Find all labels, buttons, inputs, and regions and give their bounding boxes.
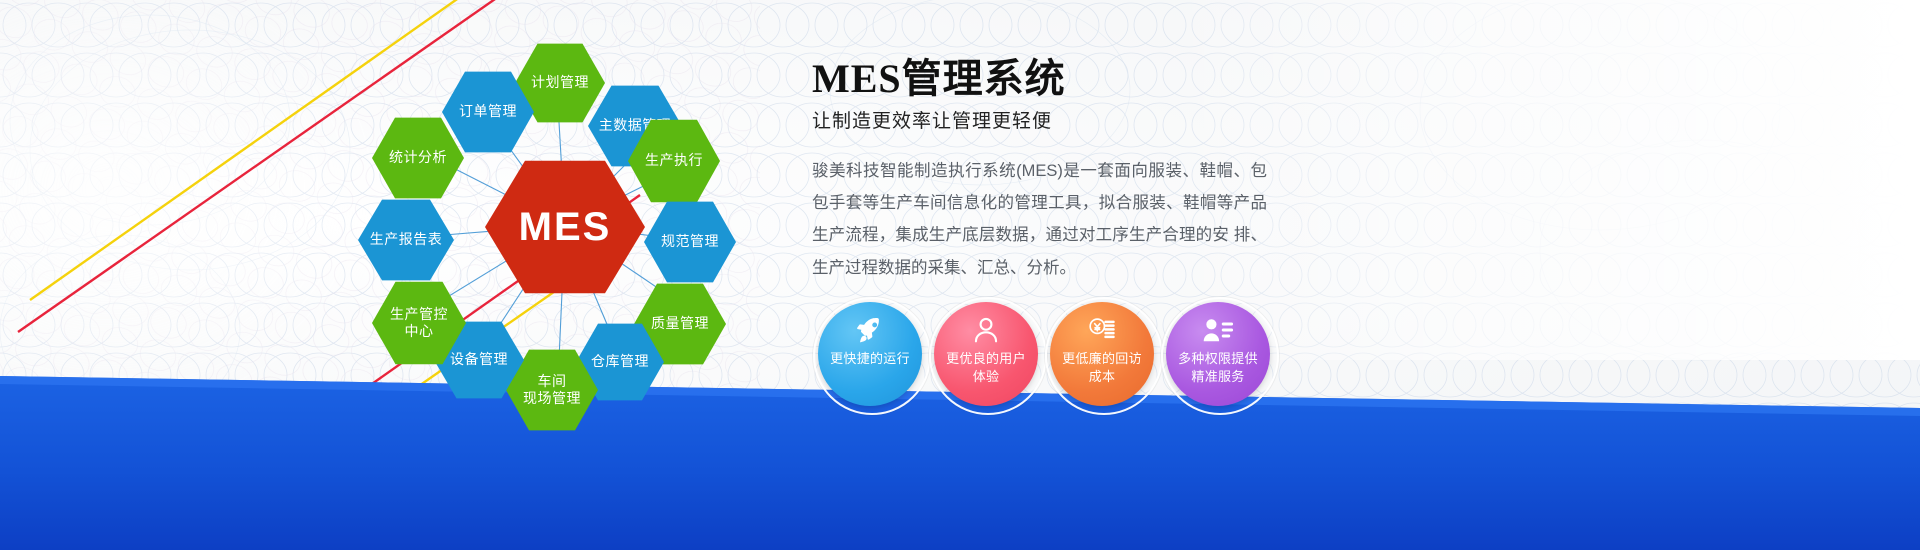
badge-ring: [813, 297, 931, 415]
hex-node-9-label: 生产报告表: [366, 231, 447, 249]
hex-node-11-label: 订单管理: [455, 103, 521, 121]
feature-badge-0[interactable]: 更快捷的运行: [818, 302, 922, 406]
badge-ring: [1161, 297, 1279, 415]
hex-node-10-label: 统计分析: [385, 149, 451, 167]
hex-node-center-label: MES: [515, 202, 616, 252]
hex-node-2-label: 生产执行: [641, 152, 707, 170]
hex-node-7-label: 设备管理: [446, 351, 512, 369]
banner-text-panel: MES管理系统 让制造更效率让管理更轻便 骏美科技智能制造执行系统(MES)是一…: [812, 56, 1282, 284]
page-subtitle: 让制造更效率让管理更轻便: [812, 106, 1282, 133]
intro-paragraph: 骏美科技智能制造执行系统(MES)是一套面向服装、鞋帽、包包手套等生产车间信息化…: [812, 155, 1267, 284]
hex-node-6-label: 车间 现场管理: [519, 373, 585, 408]
hex-node-5-label: 仓库管理: [587, 353, 653, 371]
hex-node-8-label: 生产管控 中心: [386, 306, 452, 341]
banner-stage: MES 计划管理 主数据管理 生产执行 规范管理 质量管理 仓库管理 车间 现场…: [0, 0, 1920, 550]
hex-node-0-label: 计划管理: [527, 74, 593, 92]
feature-badge-2[interactable]: 更低廉的回访成本: [1050, 302, 1154, 406]
feature-badge-list: 更快捷的运行 更优良的用户体验: [818, 302, 1270, 406]
hex-node-3-label: 规范管理: [657, 233, 723, 251]
mes-hex-diagram: MES 计划管理 主数据管理 生产执行 规范管理 质量管理 仓库管理 车间 现场…: [330, 10, 800, 440]
feature-badge-3[interactable]: 多种权限提供精准服务: [1166, 302, 1270, 406]
badge-ring: [929, 297, 1047, 415]
hex-node-4-label: 质量管理: [647, 315, 713, 333]
badge-ring: [1045, 297, 1163, 415]
page-title: MES管理系统: [812, 56, 1282, 102]
feature-badge-1[interactable]: 更优良的用户体验: [934, 302, 1038, 406]
